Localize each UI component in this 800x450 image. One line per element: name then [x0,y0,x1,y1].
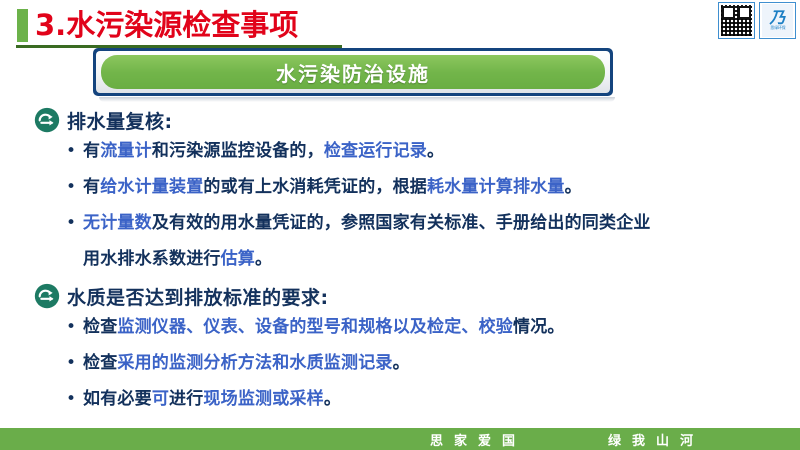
text-run: 可 [152,389,169,409]
brand-mark-glyph: 乃 [769,10,785,25]
bullet-text: 无计量数及有效的用水量凭证的，参照国家有关标准、手册给出的同类企业 [83,208,651,238]
section-heading-label: 水质是否达到排放标准的要求: [67,283,329,310]
text-run: 。 [324,389,341,409]
bullet-text: 检查采用的监测分析方法和水质监测记录。 [83,348,410,378]
page-title: 3.水污染源检查事项 [35,6,298,44]
text-run: 现场监测或采样 [203,389,323,409]
footer-bar: 思家爱国 绿我山河 [0,428,800,450]
section-2: 水质是否达到排放标准的要求:•检查监测仪器、仪表、设备的型号和规格以及检定、校验… [0,280,800,420]
bullet-text: 检查监测仪器、仪表、设备的型号和规格以及检定、校验情况。 [83,312,565,342]
text-run: 估算 [221,249,255,269]
bullet-continuation: 用水排水系数进行估算。 [0,244,800,280]
text-run: 流量计 [100,141,152,161]
slide-canvas: 3.水污染源检查事项 乃 思绿环保 水污染防治设施 排水量复核:•有流量计和污染… [0,0,800,450]
logo-group: 乃 思绿环保 [718,2,796,39]
bullet-text: 如有必要可进行现场监测或采样。 [83,384,341,414]
content-body: 排水量复核:•有流量计和污染源监控设备的，检查运行记录。•有给水计量装置的或有上… [0,104,800,420]
bullet-item: •检查采用的监测分析方法和水质监测记录。 [0,348,800,384]
bullet-text: 有流量计和污染源监控设备的，检查运行记录。 [83,136,444,166]
footer-slogan-right: 绿我山河 [608,430,704,449]
footer-slogan-left: 思家爱国 [430,430,526,449]
text-run: 采用的监测分析方法和水质监测记录 [117,353,392,373]
section-heading-label: 排水量复核: [67,107,173,134]
section-1: 排水量复核:•有流量计和污染源监控设备的，检查运行记录。•有给水计量装置的或有上… [0,104,800,280]
text-run: 给水计量装置 [100,177,203,197]
banner-shadow [99,97,615,102]
arrow-circle-icon [34,107,60,133]
banner-inner-bevel: 水污染防治设施 [96,51,610,93]
title-accent-bar [17,9,28,42]
text-run: 无计量数 [83,213,152,233]
bullet-marker: • [66,312,83,342]
text-run: 。 [427,141,444,161]
bullet-item: •如有必要可进行现场监测或采样。 [0,384,800,420]
bullet-marker: • [66,384,83,414]
qr-code-box [718,2,755,39]
arrow-circle-icon [34,283,60,309]
bullet-marker: • [66,208,83,238]
bullet-item: •检查监测仪器、仪表、设备的型号和规格以及检定、校验情况。 [0,312,800,348]
bullet-marker: • [66,136,83,166]
text-run: 如有必要 [83,389,152,409]
bullet-item: •无计量数及有效的用水量凭证的，参照国家有关标准、手册给出的同类企业 [0,208,800,244]
qr-code-icon [721,5,752,36]
section-heading: 排水量复核: [0,104,800,136]
text-run: 进行 [169,389,203,409]
text-run: 和污染源监控设备的， [152,141,324,161]
brand-name-text: 思绿环保 [770,25,785,31]
text-run: 耗水量计算排水量 [427,177,565,197]
banner-frame: 水污染防治设施 [93,48,613,96]
section-heading: 水质是否达到排放标准的要求: [0,280,800,312]
banner-title: 水污染防治设施 [276,58,430,87]
text-run: 有 [83,141,100,161]
text-run: 检查运行记录 [324,141,427,161]
text-run: 及有效的用水量凭证的，参照国家有关标准、手册给出的同类企业 [152,213,651,233]
text-run: 用水排水系数进行 [83,249,221,269]
bullet-continuation-text: 用水排水系数进行估算。 [83,244,272,280]
bullet-marker: • [66,348,83,378]
text-run: 情况。 [513,317,565,337]
text-run: 。 [255,249,272,269]
bullet-item: •有流量计和污染源监控设备的，检查运行记录。 [0,136,800,172]
text-run: 。 [565,177,582,197]
bullet-text: 有给水计量装置的或有上水消耗凭证的，根据耗水量计算排水量。 [83,172,582,202]
brand-logo-icon: 乃 思绿环保 [762,4,793,37]
banner-pill: 水污染防治设施 [101,55,605,89]
text-run: 监测仪器、仪表、设备的型号和规格以及检定、校验 [117,317,513,337]
text-run: 的或有上水消耗凭证的，根据 [203,177,427,197]
brand-logo-box: 乃 思绿环保 [759,2,796,39]
text-run: 检查 [83,353,117,373]
text-run: 有 [83,177,100,197]
text-run: 检查 [83,317,117,337]
bullet-marker: • [66,172,83,202]
bullet-item: •有给水计量装置的或有上水消耗凭证的，根据耗水量计算排水量。 [0,172,800,208]
text-run: 。 [393,353,410,373]
